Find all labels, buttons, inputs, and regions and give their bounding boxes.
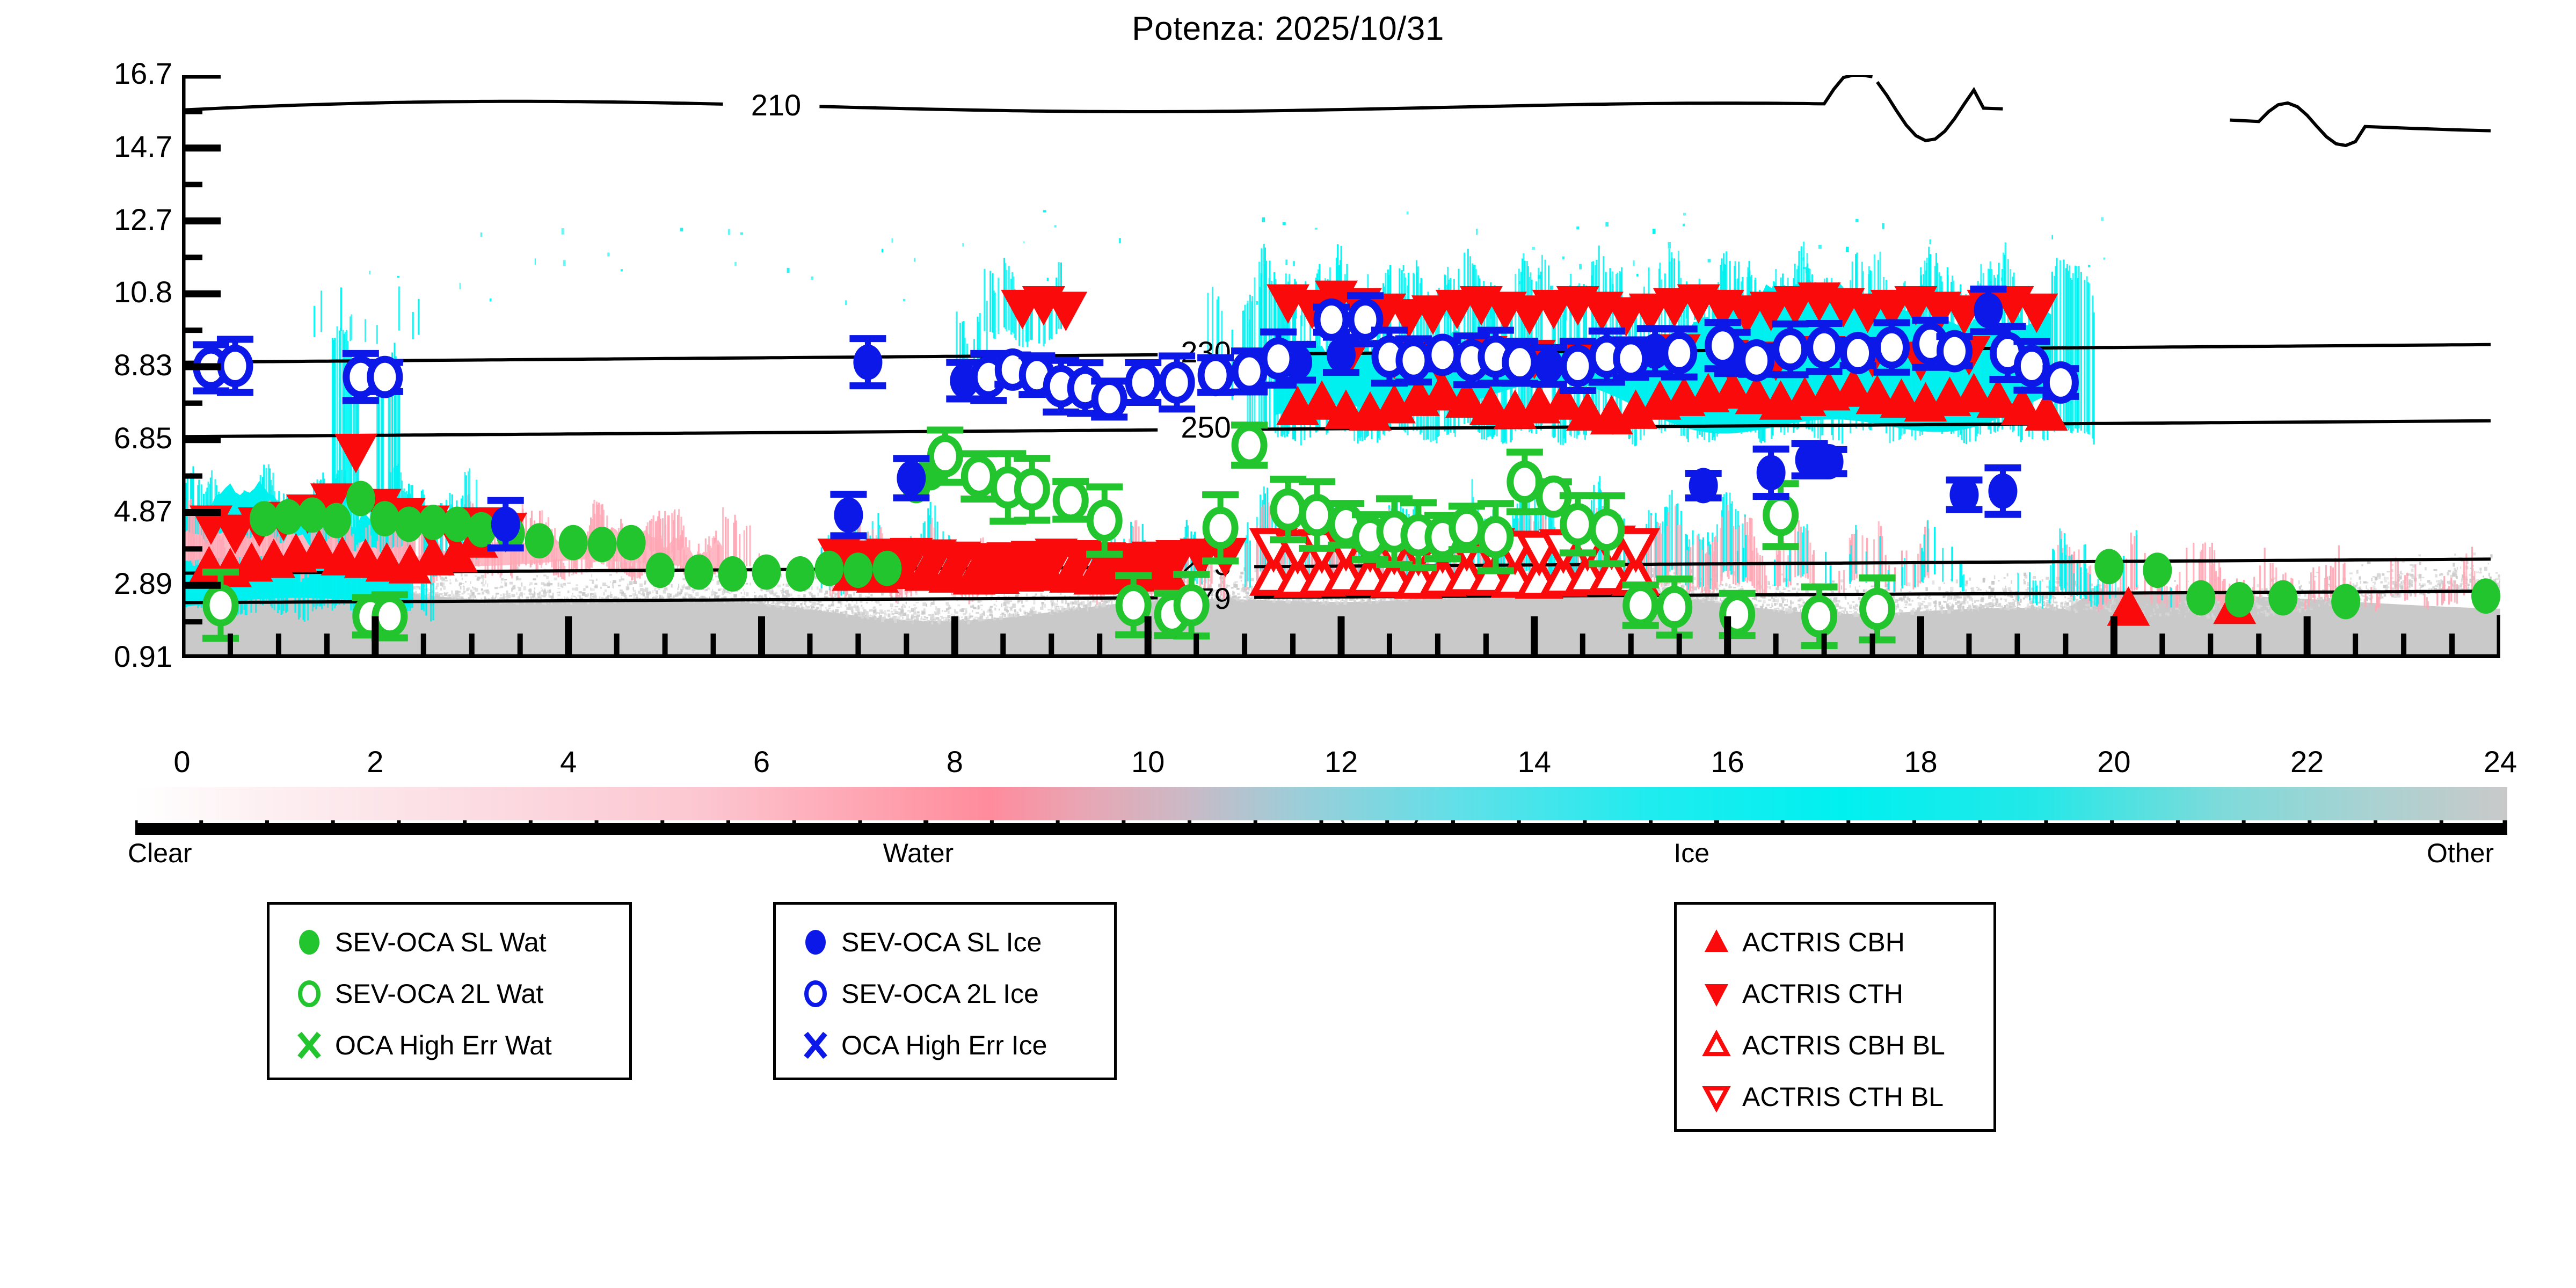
y-tick-label: 2.89 <box>0 566 172 601</box>
marker-open-circle <box>1129 365 1158 401</box>
marker-open-circle <box>1090 503 1119 539</box>
marker-open-circle <box>1708 328 1737 363</box>
legend-label: ACTRIS CTH <box>1742 978 1903 1009</box>
marker-open-circle <box>1626 587 1655 623</box>
legend-label: ACTRIS CBH <box>1742 927 1905 958</box>
marker-open-circle <box>1095 381 1124 417</box>
marker-filled-circle <box>2268 580 2297 616</box>
marker-open-circle <box>1742 343 1771 378</box>
marker-filled-circle <box>685 555 714 590</box>
marker-open-circle <box>1235 354 1264 389</box>
plot-canvas: 210230250273279 <box>182 75 2500 658</box>
marker-filled-circle <box>346 481 375 516</box>
contour-label: 210 <box>751 88 801 122</box>
legend-item[interactable]: SEV-OCA SL Ice <box>776 916 1114 968</box>
marker-filled-circle <box>1949 477 1978 513</box>
marker-filled-circle <box>2094 549 2123 584</box>
y-tick-label: 14.7 <box>0 129 172 164</box>
x-tick-label: 8 <box>901 744 1008 779</box>
x-tick-label: 14 <box>1481 744 1588 779</box>
marker-open-circle <box>1235 427 1264 463</box>
legend-symbol-open-triangle-down <box>1696 1076 1737 1117</box>
marker-filled-circle <box>491 506 520 542</box>
legend-item[interactable]: ACTRIS CTH BL <box>1677 1071 1993 1123</box>
marker-open-circle <box>964 459 993 494</box>
marker-filled-circle <box>588 527 617 562</box>
y-tick-label: 8.83 <box>0 347 172 382</box>
x-tick-label: 16 <box>1674 744 1781 779</box>
marker-open-circle <box>2046 365 2075 401</box>
marker-open-circle <box>1201 358 1230 393</box>
marker-open-circle <box>1056 483 1085 518</box>
legend-label: SEV-OCA 2L Wat <box>335 978 543 1009</box>
marker-filled-circle <box>370 501 399 536</box>
colorbar-label: Other <box>2427 838 2494 869</box>
colorbar-gradient <box>135 787 2507 820</box>
marker-open-circle <box>2017 348 2046 384</box>
y-tick-label: 16.7 <box>0 56 172 91</box>
x-tick-label: 24 <box>2447 744 2554 779</box>
marker-open-circle <box>206 587 235 623</box>
marker-open-circle <box>1805 599 1834 634</box>
legend-item[interactable]: ACTRIS CBH BL <box>1677 1020 1993 1071</box>
legend-symbol-open-circle <box>795 973 836 1014</box>
marker-filled-circle <box>785 556 814 592</box>
legend-marker-icon <box>1693 973 1740 1014</box>
marker-open-circle <box>1264 341 1293 376</box>
marker-filled-circle <box>467 512 496 548</box>
legend-marker-icon <box>286 922 333 963</box>
marker-filled-circle <box>872 551 901 586</box>
marker-open-circle <box>1162 365 1191 401</box>
ice-legend: SEV-OCA SL IceSEV-OCA 2L IceOCA High Err… <box>773 902 1117 1080</box>
marker-filled-circle <box>1795 442 1824 478</box>
marker-filled-circle <box>2186 580 2215 616</box>
marker-filled-circle <box>834 497 863 533</box>
legend-marker-icon <box>286 1025 333 1066</box>
legend-item[interactable]: ACTRIS CTH <box>1677 968 1993 1020</box>
marker-filled-circle <box>322 503 351 539</box>
legend-label: ACTRIS CBH BL <box>1742 1030 1945 1061</box>
legend-item[interactable]: SEV-OCA 2L Wat <box>270 968 629 1020</box>
legend-symbol-filled-triangle-down <box>1696 973 1737 1014</box>
marker-filled-circle <box>559 525 588 561</box>
marker-open-circle <box>1428 337 1457 373</box>
legend-item[interactable]: OCA High Err Ice <box>776 1020 1114 1071</box>
marker-open-circle <box>1863 591 1892 627</box>
y-tick-label: 4.87 <box>0 493 172 528</box>
legend-marker-icon <box>792 1025 839 1066</box>
marker-filled-circle <box>617 525 646 561</box>
marker-filled-circle <box>525 523 554 558</box>
marker-open-circle <box>1510 464 1539 500</box>
marker-open-circle <box>1481 519 1510 555</box>
marker-filled-circle <box>814 551 843 586</box>
marker-open-circle <box>1878 330 1906 365</box>
x-tick-label: 0 <box>128 744 236 779</box>
legend-label: SEV-OCA 2L Ice <box>841 978 1039 1009</box>
marker-open-circle <box>1776 332 1805 367</box>
page-title: Potenza: 2025/10/31 <box>0 10 2576 48</box>
legend-label: SEV-OCA SL Ice <box>841 927 1042 958</box>
marker-open-circle <box>1302 497 1331 533</box>
legend-symbol-filled-triangle-up <box>1696 922 1737 963</box>
marker-open-circle <box>1177 587 1206 623</box>
x-tick-label: 18 <box>1867 744 1975 779</box>
marker-open-circle <box>1563 506 1592 542</box>
marker-filled-circle <box>298 497 327 533</box>
legend-item[interactable]: SEV-OCA SL Wat <box>270 916 629 968</box>
marker-open-circle <box>1844 336 1873 371</box>
marker-open-circle <box>1810 330 1839 365</box>
colorbar-label: Water <box>883 838 954 869</box>
marker-filled-circle <box>843 552 872 588</box>
marker-open-circle <box>1274 492 1302 527</box>
marker-filled-circle <box>1757 455 1786 491</box>
marker-open-circle <box>1940 333 1969 369</box>
marker-open-circle <box>1592 512 1621 548</box>
marker-open-circle <box>1665 336 1694 371</box>
marker-open-circle <box>1017 471 1046 507</box>
marker-open-circle <box>1452 510 1481 545</box>
marker-filled-circle <box>853 345 882 380</box>
legend-symbol-x <box>289 1025 330 1066</box>
marker-open-circle <box>930 439 959 474</box>
marker-filled-circle <box>1689 468 1718 504</box>
contour-label: 250 <box>1181 410 1231 444</box>
x-tick-label: 2 <box>322 744 429 779</box>
marker-filled-circle <box>1534 348 1563 384</box>
colorbar-ticks <box>135 820 2507 836</box>
x-tick-label: 12 <box>1287 744 1395 779</box>
legend-symbol-filled-circle <box>289 922 330 963</box>
x-tick-label: 6 <box>708 744 816 779</box>
x-tick-label: 4 <box>515 744 622 779</box>
marker-open-circle <box>1563 348 1592 384</box>
legend-item[interactable]: SEV-OCA 2L Ice <box>776 968 1114 1020</box>
y-tick-label: 0.91 <box>0 639 172 674</box>
marker-open-circle <box>375 599 404 634</box>
legend-item[interactable]: OCA High Err Wat <box>270 1020 629 1071</box>
legend-marker-icon <box>1693 1025 1740 1066</box>
colorbar <box>135 787 2507 820</box>
y-tick-label: 6.85 <box>0 420 172 455</box>
x-tick-label: 22 <box>2253 744 2361 779</box>
legend-marker-icon <box>286 973 333 1014</box>
marker-open-circle <box>221 348 250 384</box>
marker-filled-circle <box>1974 293 2003 328</box>
legend-symbol-open-circle <box>289 973 330 1014</box>
water-legend: SEV-OCA SL WatSEV-OCA 2L WatOCA High Err… <box>267 902 632 1080</box>
marker-filled-circle <box>2143 552 2172 588</box>
legend-label: SEV-OCA SL Wat <box>335 927 547 958</box>
y-tick-label: 10.8 <box>0 274 172 309</box>
marker-open-circle <box>1617 341 1646 376</box>
legend-label: OCA High Err Ice <box>841 1030 1047 1061</box>
marker-open-circle <box>1660 590 1689 625</box>
colorbar-label: Clear <box>128 838 192 869</box>
marker-filled-circle <box>2225 582 2254 617</box>
x-tick-label: 10 <box>1094 744 1202 779</box>
marker-filled-circle <box>1988 474 2017 509</box>
marker-filled-circle <box>2471 578 2500 614</box>
marker-open-circle <box>1766 497 1795 533</box>
legend-marker-icon <box>792 922 839 963</box>
x-tick-label: 20 <box>2060 744 2167 779</box>
legend-marker-icon <box>1693 922 1740 963</box>
marker-filled-circle <box>897 461 926 496</box>
marker-open-circle <box>1505 345 1534 380</box>
marker-open-circle <box>1399 343 1428 378</box>
legend-symbol-open-triangle-up <box>1696 1025 1737 1066</box>
legend-item[interactable]: ACTRIS CBH <box>1677 916 1993 968</box>
legend-label: OCA High Err Wat <box>335 1030 552 1061</box>
marker-open-circle <box>1206 510 1235 545</box>
actris-legend: ACTRIS CBHACTRIS CTHACTRIS CBH BLACTRIS … <box>1674 902 1996 1132</box>
marker-open-circle <box>370 359 399 395</box>
plot-area: Height AMSL (km) 16.714.712.710.88.836.8… <box>182 75 2500 658</box>
y-tick-label: 12.7 <box>0 202 172 237</box>
legend-label: ACTRIS CTH BL <box>1742 1081 1944 1112</box>
marker-filled-circle <box>2331 584 2360 619</box>
marker-filled-circle <box>718 556 747 592</box>
colorbar-label: Ice <box>1673 838 1709 869</box>
marker-filled-circle <box>646 552 675 588</box>
marker-open-circle <box>1317 302 1346 338</box>
legend-symbol-filled-circle <box>795 922 836 963</box>
legend-marker-icon <box>792 973 839 1014</box>
marker-filled-circle <box>752 555 781 590</box>
marker-filled-circle <box>443 506 472 542</box>
legend-symbol-x <box>795 1025 836 1066</box>
legend-marker-icon <box>1693 1076 1740 1117</box>
marker-open-circle <box>1119 587 1148 623</box>
